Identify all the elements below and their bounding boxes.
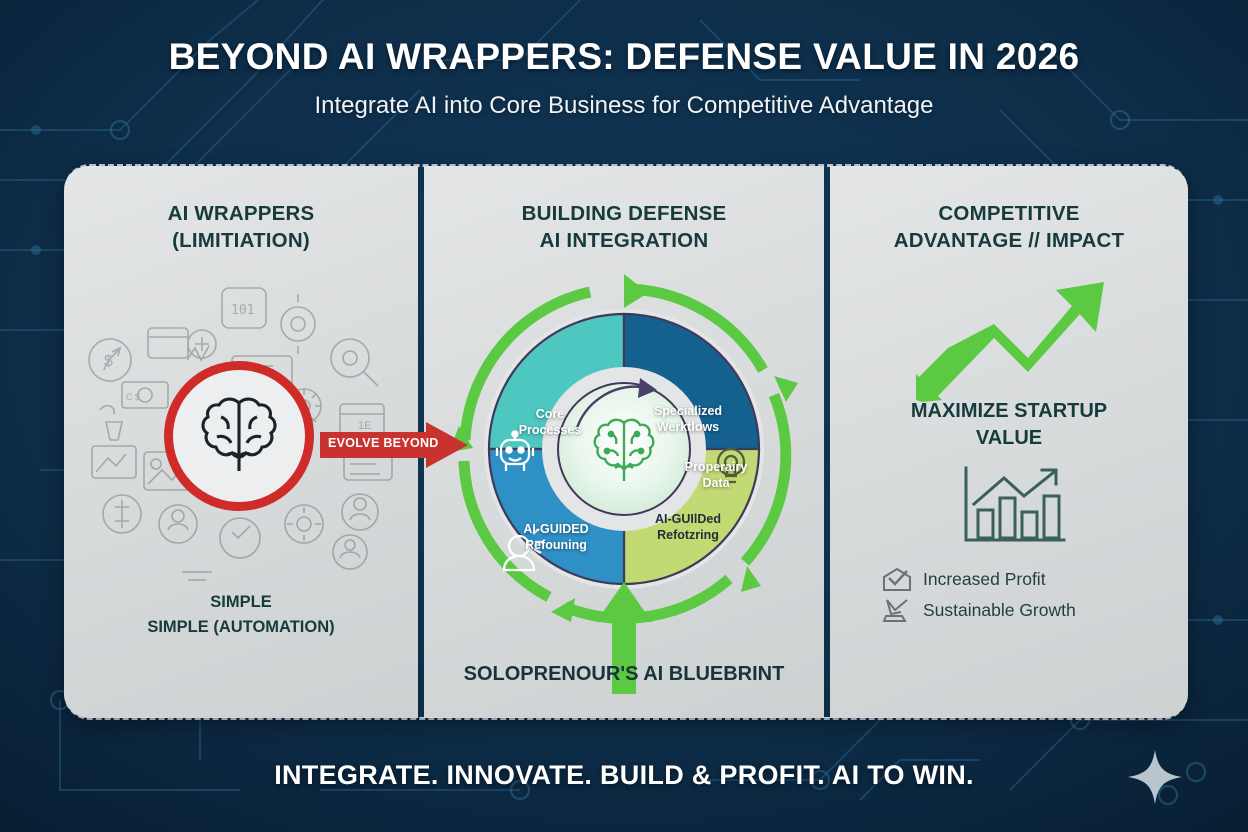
wheel-label-specialized-workflows-l1: Specialized xyxy=(636,403,740,419)
panel-mid-heading-line2: AI INTEGRATION xyxy=(424,227,824,254)
panel-left-heading-line2: (LIMITIATION) xyxy=(64,227,418,254)
wheel-label-ai-guided-refactoring-l2: Refotzring xyxy=(638,527,738,543)
panel-left-footer-line1: SIMPLE xyxy=(64,590,418,615)
sparkle-icon xyxy=(1126,748,1184,806)
panel-right-heading-line1: COMPETITIVE xyxy=(830,200,1188,227)
trending-up-arrow-icon xyxy=(916,262,1106,402)
page-title: BEYOND AI WRAPPERS: DEFENSE VALUE IN 202… xyxy=(169,36,1080,78)
header: BEYOND AI WRAPPERS: DEFENSE VALUE IN 202… xyxy=(0,0,1248,152)
brain-icon-circle xyxy=(164,361,314,511)
wheel-label-ai-guided-refactoring-l1: AI-GUIlDed xyxy=(638,511,738,527)
wheel-label-specialized-workflows: Specialized Werktlows xyxy=(636,403,740,435)
panel-competitive-advantage[interactable]: COMPETITIVE ADVANTAGE // IMPACT MAXIMIZE… xyxy=(830,166,1188,718)
list-item: Sustainable Growth xyxy=(882,595,1152,626)
page-subtitle: Integrate AI into Core Business for Comp… xyxy=(314,92,933,120)
panel-right-middle-line1: MAXIMIZE STARTUP xyxy=(830,398,1188,425)
bar-chart-growth-icon xyxy=(958,466,1068,548)
list-item: Increased Profit xyxy=(882,564,1152,595)
svg-text:C $: C $ xyxy=(126,392,140,402)
footer-text: INTEGRATE. INNOVATE. BUILD & PROFIT. AI … xyxy=(274,760,974,791)
benefit-label: Increased Profit xyxy=(923,569,1046,590)
panel-right-middle-line2: VALUE xyxy=(830,425,1188,452)
svg-text:$: $ xyxy=(104,353,113,370)
panel-row: AI WRAPPERS (LIMITIATION) 101 $ C $ 1E xyxy=(64,166,1188,718)
check-badge-icon xyxy=(882,598,912,624)
check-envelope-icon xyxy=(882,567,912,593)
wheel-label-core-processes-l1: Core xyxy=(502,406,598,422)
panel-left-heading: AI WRAPPERS (LIMITIATION) xyxy=(64,200,418,254)
panel-right-heading: COMPETITIVE ADVANTAGE // IMPACT xyxy=(830,200,1188,254)
wheel-label-proprietary-data: Properairy Data xyxy=(668,459,764,491)
panel-mid-heading: BUILDING DEFENSE AI INTEGRATION xyxy=(424,200,824,254)
svg-text:101: 101 xyxy=(231,303,254,318)
evolve-beyond-label: EVOLVE BEYOND xyxy=(328,436,439,450)
benefits-list: Increased Profit Sustainable Growth xyxy=(882,564,1152,626)
wheel-label-ai-guided-refactoring: AI-GUIlDed Refotzring xyxy=(638,511,738,543)
panel-mid-heading-line1: BUILDING DEFENSE xyxy=(424,200,824,227)
wheel-label-specialized-workflows-l2: Werktlows xyxy=(636,419,740,435)
panel-building-defense[interactable]: BUILDING DEFENSE AI INTEGRATION xyxy=(424,166,824,718)
wheel-label-ai-guided-refining: AI-GUIDED Refouning xyxy=(506,521,606,553)
panel-left-heading-line1: AI WRAPPERS xyxy=(64,200,418,227)
wheel-label-ai-guided-refining-l2: Refouning xyxy=(506,537,606,553)
ai-integration-wheel xyxy=(441,266,807,632)
panel-left-footer-line2: SIMPLE (AUTOMATION) xyxy=(64,615,418,640)
wheel-label-proprietary-data-l2: Data xyxy=(668,475,764,491)
panel-right-heading-line2: ADVANTAGE // IMPACT xyxy=(830,227,1188,254)
panel-right-middle-text: MAXIMIZE STARTUP VALUE xyxy=(830,398,1188,452)
wheel-label-core-processes: Core Processes xyxy=(502,406,598,438)
panel-mid-footer: SOLOPRENOUR'S AI BLUEBRINT xyxy=(424,663,824,686)
footer: INTEGRATE. INNOVATE. BUILD & PROFIT. AI … xyxy=(0,760,1248,791)
brain-icon xyxy=(191,393,287,479)
wheel-label-proprietary-data-l1: Properairy xyxy=(668,459,764,475)
wheel-label-core-processes-l2: Processes xyxy=(502,422,598,438)
panel-left-footer: SIMPLE SIMPLE (AUTOMATION) xyxy=(64,590,418,640)
benefit-label: Sustainable Growth xyxy=(923,600,1076,621)
wheel-label-ai-guided-refining-l1: AI-GUIDED xyxy=(506,521,606,537)
